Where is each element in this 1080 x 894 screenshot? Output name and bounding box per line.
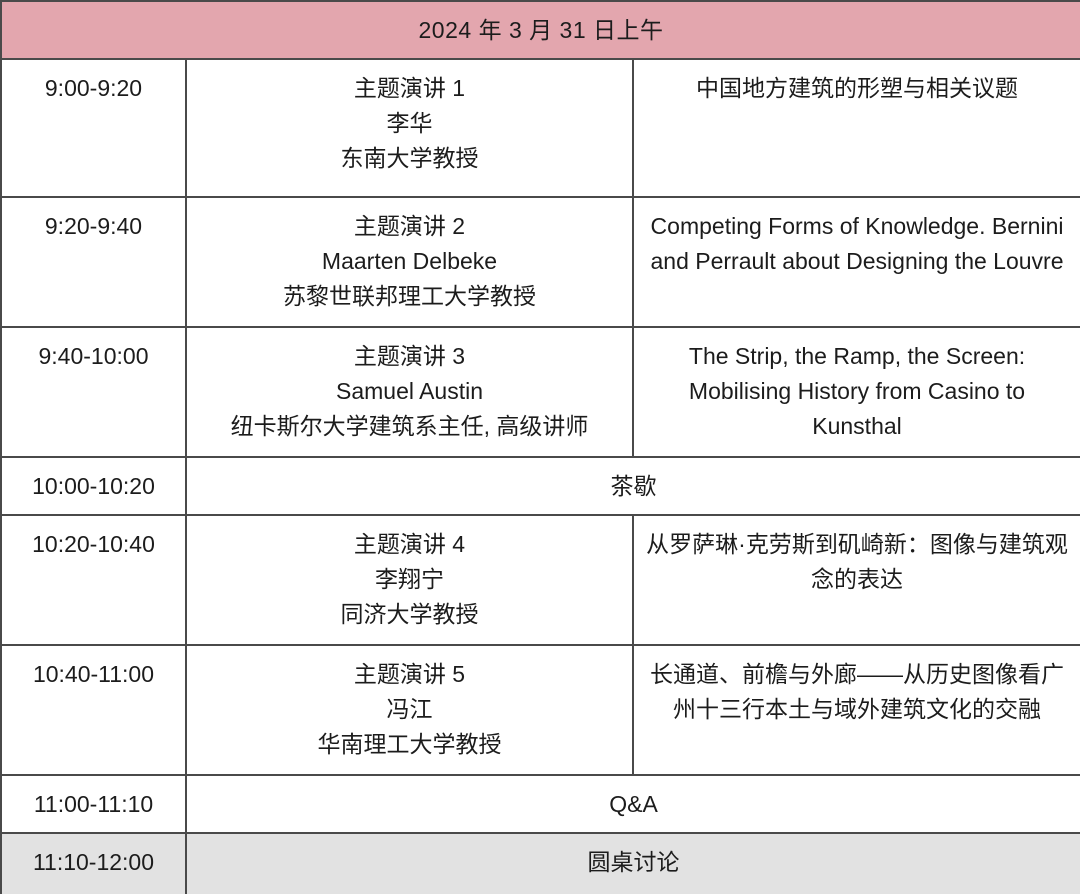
schedule-row: 10:40-11:00主题演讲 5冯江华南理工大学教授长通道、前檐与外廊——从历…	[1, 645, 1080, 775]
session-time-cell: 9:00-9:20	[1, 59, 186, 197]
session-speaker-cell: 主题演讲 5冯江华南理工大学教授	[186, 645, 633, 775]
session-speaker-line: 主题演讲 4	[195, 527, 624, 562]
session-title-cell: Competing Forms of Knowledge. Bernini an…	[633, 197, 1080, 327]
session-schedule-table: 2024 年 3 月 31 日上午 9:00-9:20主题演讲 1李华东南大学教…	[0, 0, 1080, 894]
session-speaker-line: 冯江	[195, 692, 624, 727]
session-speaker-line: 主题演讲 5	[195, 657, 624, 692]
schedule-header-row: 2024 年 3 月 31 日上午	[1, 1, 1080, 59]
session-speaker-line: 纽卡斯尔大学建筑系主任, 高级讲师	[195, 409, 624, 444]
session-title-cell: 长通道、前檐与外廊——从历史图像看广州十三行本土与域外建筑文化的交融	[633, 645, 1080, 775]
schedule-row: 11:00-11:10Q&A	[1, 775, 1080, 833]
session-speaker-line: 东南大学教授	[195, 141, 624, 176]
session-speaker-line: 主题演讲 1	[195, 71, 624, 106]
session-time-cell: 9:40-10:00	[1, 327, 186, 457]
session-title-cell: 中国地方建筑的形塑与相关议题	[633, 59, 1080, 197]
session-span-cell: 圆桌讨论	[186, 833, 1080, 894]
session-title-cell: 从罗萨琳·克劳斯到矶崎新：图像与建筑观念的表达	[633, 515, 1080, 645]
session-time-cell: 9:20-9:40	[1, 197, 186, 327]
session-speaker-cell: 主题演讲 2Maarten Delbeke苏黎世联邦理工大学教授	[186, 197, 633, 327]
session-speaker-line: 主题演讲 3	[195, 339, 624, 374]
schedule-row: 10:00-10:20茶歇	[1, 457, 1080, 515]
session-speaker-line: 李翔宁	[195, 562, 624, 597]
session-speaker-line: 华南理工大学教授	[195, 727, 624, 762]
session-speaker-line: 李华	[195, 106, 624, 141]
session-speaker-cell: 主题演讲 1李华东南大学教授	[186, 59, 633, 197]
schedule-date-title: 2024 年 3 月 31 日上午	[10, 13, 1072, 48]
session-speaker-line: Maarten Delbeke	[195, 244, 624, 279]
session-speaker-cell: 主题演讲 4李翔宁同济大学教授	[186, 515, 633, 645]
schedule-row: 11:10-12:00圆桌讨论	[1, 833, 1080, 894]
session-speaker-line: 苏黎世联邦理工大学教授	[195, 279, 624, 314]
session-time-cell: 10:40-11:00	[1, 645, 186, 775]
schedule-row: 9:00-9:20主题演讲 1李华东南大学教授中国地方建筑的形塑与相关议题	[1, 59, 1080, 197]
schedule-row: 9:20-9:40主题演讲 2Maarten Delbeke苏黎世联邦理工大学教…	[1, 197, 1080, 327]
schedule-date-header: 2024 年 3 月 31 日上午	[1, 1, 1080, 59]
session-time-cell: 10:20-10:40	[1, 515, 186, 645]
session-time-cell: 11:10-12:00	[1, 833, 186, 894]
schedule-row: 9:40-10:00主题演讲 3Samuel Austin纽卡斯尔大学建筑系主任…	[1, 327, 1080, 457]
session-span-cell: Q&A	[186, 775, 1080, 833]
session-speaker-cell: 主题演讲 3Samuel Austin纽卡斯尔大学建筑系主任, 高级讲师	[186, 327, 633, 457]
schedule-row: 10:20-10:40主题演讲 4李翔宁同济大学教授从罗萨琳·克劳斯到矶崎新：图…	[1, 515, 1080, 645]
schedule-body: 2024 年 3 月 31 日上午 9:00-9:20主题演讲 1李华东南大学教…	[1, 1, 1080, 894]
session-speaker-line: 主题演讲 2	[195, 209, 624, 244]
session-speaker-line: 同济大学教授	[195, 597, 624, 632]
session-time-cell: 11:00-11:10	[1, 775, 186, 833]
session-title-cell: The Strip, the Ramp, the Screen: Mobilis…	[633, 327, 1080, 457]
session-span-cell: 茶歇	[186, 457, 1080, 515]
session-time-cell: 10:00-10:20	[1, 457, 186, 515]
session-speaker-line: Samuel Austin	[195, 374, 624, 409]
